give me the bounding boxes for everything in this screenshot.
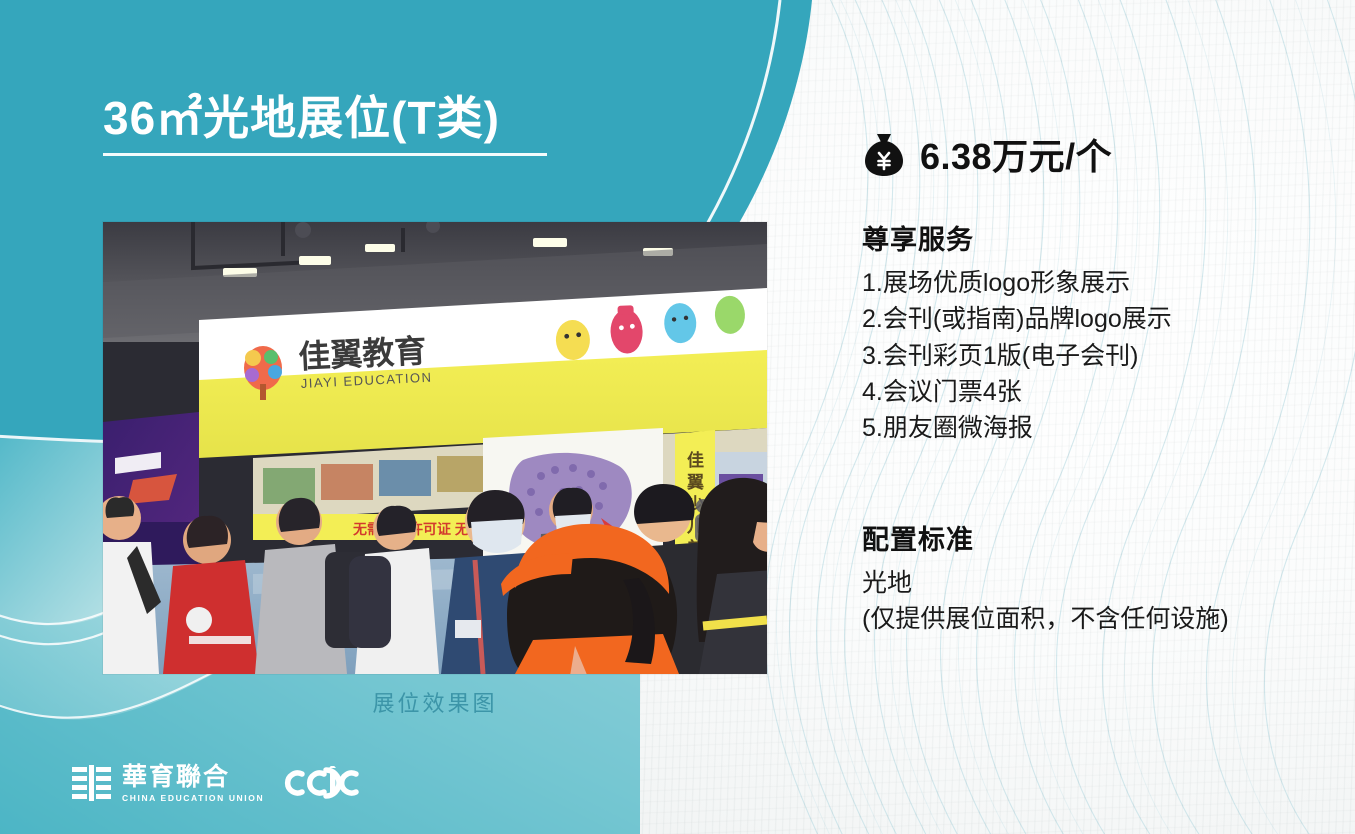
list-item: 3.会刊彩页1版(电子会刊) — [862, 338, 1292, 374]
svg-text:翼: 翼 — [687, 473, 704, 492]
title-underline — [103, 153, 547, 156]
services-list: 1.展场优质logo形象展示 2.会刊(或指南)品牌logo展示 3.会刊彩页1… — [862, 265, 1292, 446]
footer-logo-bar: 華育聯合 CHINA EDUCATION UNION — [72, 765, 362, 803]
config-line: 光地 — [862, 566, 1312, 602]
logo-wordmark: 華育聯合 CHINA EDUCATION UNION — [122, 765, 264, 803]
list-item: 1.展场优质logo形象展示 — [862, 265, 1292, 301]
page-title-block: 36㎡光地展位(T类) — [103, 92, 573, 156]
photo-caption: 展位效果图 — [103, 686, 767, 718]
svg-text:佳翼教育: 佳翼教育 — [298, 333, 428, 375]
services-heading: 尊享服务 — [862, 218, 974, 257]
price-row: 6.38万元/个 — [862, 128, 1112, 180]
booth-photo: 佳翼教育 JIAYI EDUCATION — [103, 222, 767, 674]
price-value: 6.38万元/个 — [920, 128, 1112, 180]
ccic-logo-icon — [282, 766, 362, 800]
page-title: 36㎡光地展位(T类) — [103, 92, 573, 145]
page-title-text: 36㎡光地展位(T类) — [103, 92, 500, 144]
config-line: (仅提供展位面积，不含任何设施) — [862, 602, 1312, 638]
list-item: 4.会议门票4张 — [862, 374, 1292, 410]
list-item: 2.会刊(或指南)品牌logo展示 — [862, 301, 1292, 337]
money-bag-icon — [862, 131, 906, 177]
config-heading: 配置标准 — [862, 518, 974, 557]
details-column: 6.38万元/个 尊享服务 1.展场优质logo形象展示 2.会刊(或指南)品牌… — [862, 0, 1332, 834]
svg-text:佳: 佳 — [687, 450, 704, 470]
config-lines: 光地 (仅提供展位面积，不含任何设施) — [862, 566, 1312, 637]
logo-mark-icon — [72, 765, 112, 801]
list-item: 5.朋友圈微海报 — [862, 410, 1292, 446]
logo-name-en: CHINA EDUCATION UNION — [122, 794, 264, 803]
china-education-union-logo: 華育聯合 CHINA EDUCATION UNION — [72, 765, 264, 803]
logo-name-cn: 華育聯合 — [122, 765, 264, 790]
slide-root: 36㎡光地展位(T类) — [0, 0, 1355, 834]
